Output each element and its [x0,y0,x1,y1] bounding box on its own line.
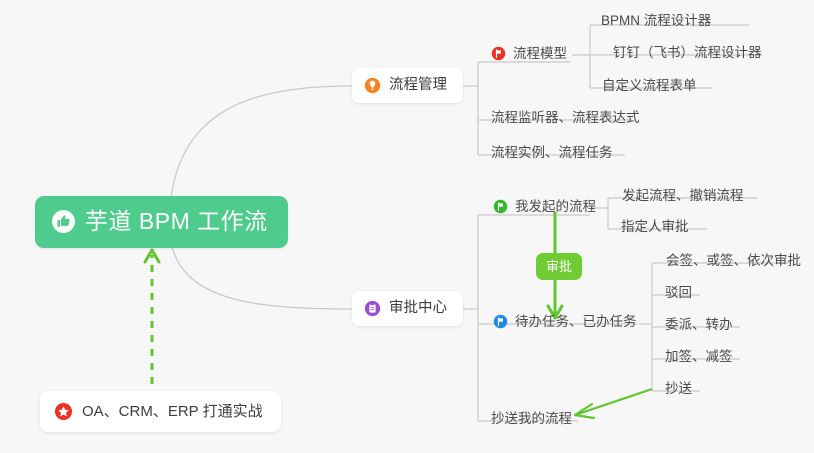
leaf-label: 流程实例、流程任务 [491,146,613,160]
flag-icon [493,199,508,214]
leaf-label: 委派、转办 [665,318,733,332]
leaf-label: 流程模型 [513,47,567,61]
leaf-label: 指定人审批 [621,220,689,234]
star-icon [54,402,73,421]
branch-label-process-management: 流程管理 [389,78,447,93]
leaf-reject[interactable]: 驳回 [665,286,692,305]
leaf-start-cancel-process[interactable]: 发起流程、撤销流程 [622,189,744,208]
leaf-todo-done-tasks[interactable]: 待办任务、已办任务 [493,314,637,334]
leaf-label: 钉钉（飞书）流程设计器 [613,46,762,60]
branch-node-approval-center[interactable]: 审批中心 [352,291,463,326]
leaf-custom-form[interactable]: 自定义流程表单 [602,79,697,98]
flag-icon [491,46,506,61]
leaf-my-started-process[interactable]: 我发起的流程 [493,199,596,219]
leaf-label: 自定义流程表单 [602,79,697,93]
leaf-process-model[interactable]: 流程模型 [491,46,567,66]
leaf-label: 加签、减签 [665,350,733,364]
leaf-delegate-transfer[interactable]: 委派、转办 [665,318,733,337]
lightbulb-icon [364,77,381,94]
flag-icon [493,314,508,329]
tag-approval[interactable]: 审批 [536,253,582,280]
leaf-label: 我发起的流程 [515,200,596,214]
branch-label-approval-center: 审批中心 [389,301,447,316]
leaf-label: 驳回 [665,286,692,300]
note-label: OA、CRM、ERP 打通实战 [82,404,263,419]
branch-node-process-management[interactable]: 流程管理 [352,68,463,103]
root-label: 芋道 BPM 工作流 [85,210,268,233]
leaf-label: 会签、或签、依次审批 [666,254,801,268]
leaf-label: 发起流程、撤销流程 [622,189,744,203]
note-node-integration[interactable]: OA、CRM、ERP 打通实战 [40,391,281,432]
root-node[interactable]: 芋道 BPM 工作流 [35,196,288,248]
leaf-label: 流程监听器、流程表达式 [491,111,640,125]
leaf-label: 抄送 [665,382,692,396]
leaf-bpmn-designer[interactable]: BPMN 流程设计器 [601,14,711,33]
thumbs-up-icon [51,209,76,234]
leaf-label: 待办任务、已办任务 [515,315,637,329]
leaf-dingtalk-designer[interactable]: 钉钉（飞书）流程设计器 [613,46,762,65]
leaf-cc-to-me[interactable]: 抄送我的流程 [491,412,572,431]
leaf-listener-expression[interactable]: 流程监听器、流程表达式 [491,111,640,130]
clipboard-icon [364,300,381,317]
leaf-assignee-approval[interactable]: 指定人审批 [621,220,689,239]
leaf-cc[interactable]: 抄送 [665,382,692,401]
leaf-add-remove-sign[interactable]: 加签、减签 [665,350,733,369]
mindmap-canvas: 芋道 BPM 工作流 流程管理 流程模型 BPMN 流程设计器 钉钉（飞书）流程 [0,0,814,453]
leaf-instance-task[interactable]: 流程实例、流程任务 [491,146,613,165]
leaf-countersign[interactable]: 会签、或签、依次审批 [666,254,801,273]
leaf-label: BPMN 流程设计器 [601,14,711,28]
leaf-label: 抄送我的流程 [491,412,572,426]
